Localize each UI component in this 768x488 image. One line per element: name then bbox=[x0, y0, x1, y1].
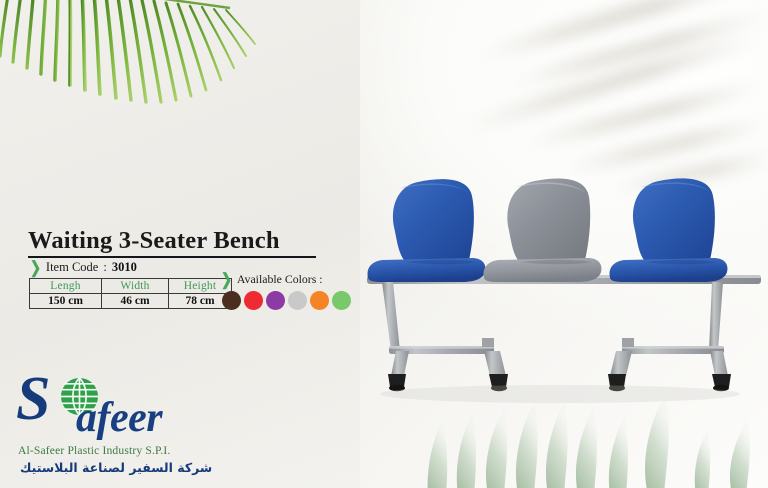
logo-tagline-english: Al-Safeer Plastic Industry S.P.I. bbox=[18, 444, 170, 457]
product-title-block: Waiting 3-Seater Bench bbox=[28, 228, 328, 258]
table-row-headers: Lengh Width Height bbox=[30, 279, 232, 294]
item-code-separator: : bbox=[103, 260, 106, 275]
item-code-value: 3010 bbox=[112, 260, 137, 275]
available-colors-heading: ❯ Available Colors : bbox=[221, 272, 351, 287]
color-swatch-red[interactable] bbox=[244, 291, 263, 310]
seat-left-blue bbox=[368, 179, 486, 282]
chevron-right-icon: ❯ bbox=[221, 271, 232, 287]
spec-value-length: 150 cm bbox=[30, 294, 102, 309]
logo-word-afeer: afeer bbox=[76, 397, 162, 439]
seat-right-blue bbox=[610, 178, 728, 282]
logo-tagline-arabic: شركة السفير لصناعة البلاستيك bbox=[20, 460, 212, 475]
logo-wordmark: S afeer bbox=[16, 376, 206, 438]
product-card-page: Waiting 3-Seater Bench ❯ Item Code : 301… bbox=[0, 0, 768, 488]
company-logo: S afeer Al-Safeer Plastic Industry S.P.I… bbox=[16, 376, 206, 438]
logo-letter-s: S bbox=[16, 368, 50, 430]
page-title: Waiting 3-Seater Bench bbox=[28, 228, 316, 258]
color-swatch-green[interactable] bbox=[332, 291, 351, 310]
item-code-label: Item Code bbox=[46, 260, 98, 275]
specifications-table: Lengh Width Height 150 cm 46 cm 78 cm bbox=[29, 278, 232, 309]
spec-header-width: Width bbox=[102, 279, 169, 294]
chevron-right-icon: ❯ bbox=[30, 259, 41, 275]
spec-header-length: Lengh bbox=[30, 279, 102, 294]
color-swatch-purple[interactable] bbox=[266, 291, 285, 310]
color-swatch-dark-brown[interactable] bbox=[222, 291, 241, 310]
available-colors-block: ❯ Available Colors : bbox=[221, 272, 351, 310]
seat-middle-gray bbox=[484, 178, 602, 282]
spec-value-width: 46 cm bbox=[102, 294, 169, 309]
color-swatch-row bbox=[222, 291, 351, 310]
color-swatch-orange[interactable] bbox=[310, 291, 329, 310]
available-colors-label: Available Colors : bbox=[237, 272, 323, 287]
item-code-row: ❯ Item Code : 3010 bbox=[30, 260, 137, 275]
table-row-values: 150 cm 46 cm 78 cm bbox=[30, 294, 232, 309]
product-photo-bench bbox=[360, 170, 768, 430]
color-swatch-light-gray[interactable] bbox=[288, 291, 307, 310]
